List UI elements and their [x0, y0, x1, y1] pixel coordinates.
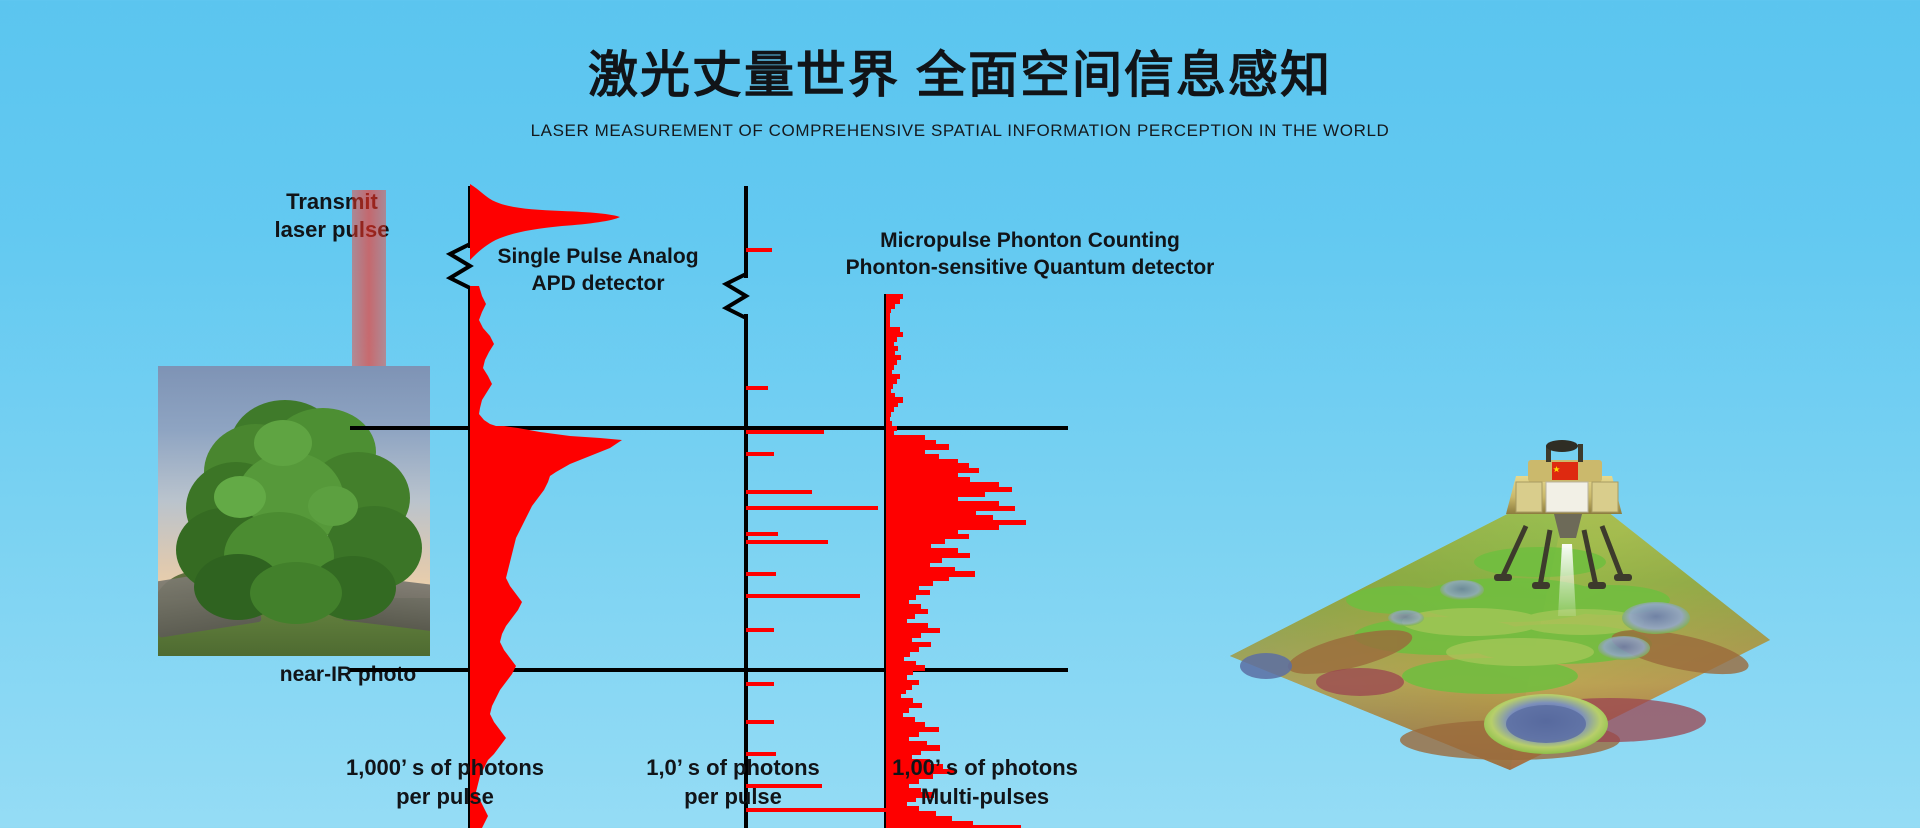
page-header: 激光丈量世界 全面空间信息感知 LASER MEASUREMENT OF COM… — [0, 0, 1920, 141]
lidar-terrain-model — [1210, 300, 1770, 780]
caption-panel-1: 1,000’ s of photons per pulse — [300, 754, 590, 811]
page-subtitle: LASER MEASUREMENT OF COMPREHENSIVE SPATI… — [0, 121, 1920, 141]
lidar-diagram: Transmit laser pulse — [0, 190, 1920, 828]
caption-panel-3: 1,00’ s of photons Multi-pulses — [845, 754, 1125, 811]
transmit-laser-pulse-label: Transmit laser pulse — [232, 188, 432, 244]
transmit-pulse-waveform — [470, 184, 630, 260]
page-title: 激光丈量世界 全面空间信息感知 — [0, 48, 1920, 103]
panel-3-waveform — [886, 294, 1116, 828]
near-ir-photo — [158, 366, 430, 656]
caption-panel-2: 1,0’ s of photons per pulse — [598, 754, 868, 811]
near-ir-photo-caption: near-IR photo — [218, 662, 478, 689]
panel-1-waveform — [470, 286, 670, 828]
